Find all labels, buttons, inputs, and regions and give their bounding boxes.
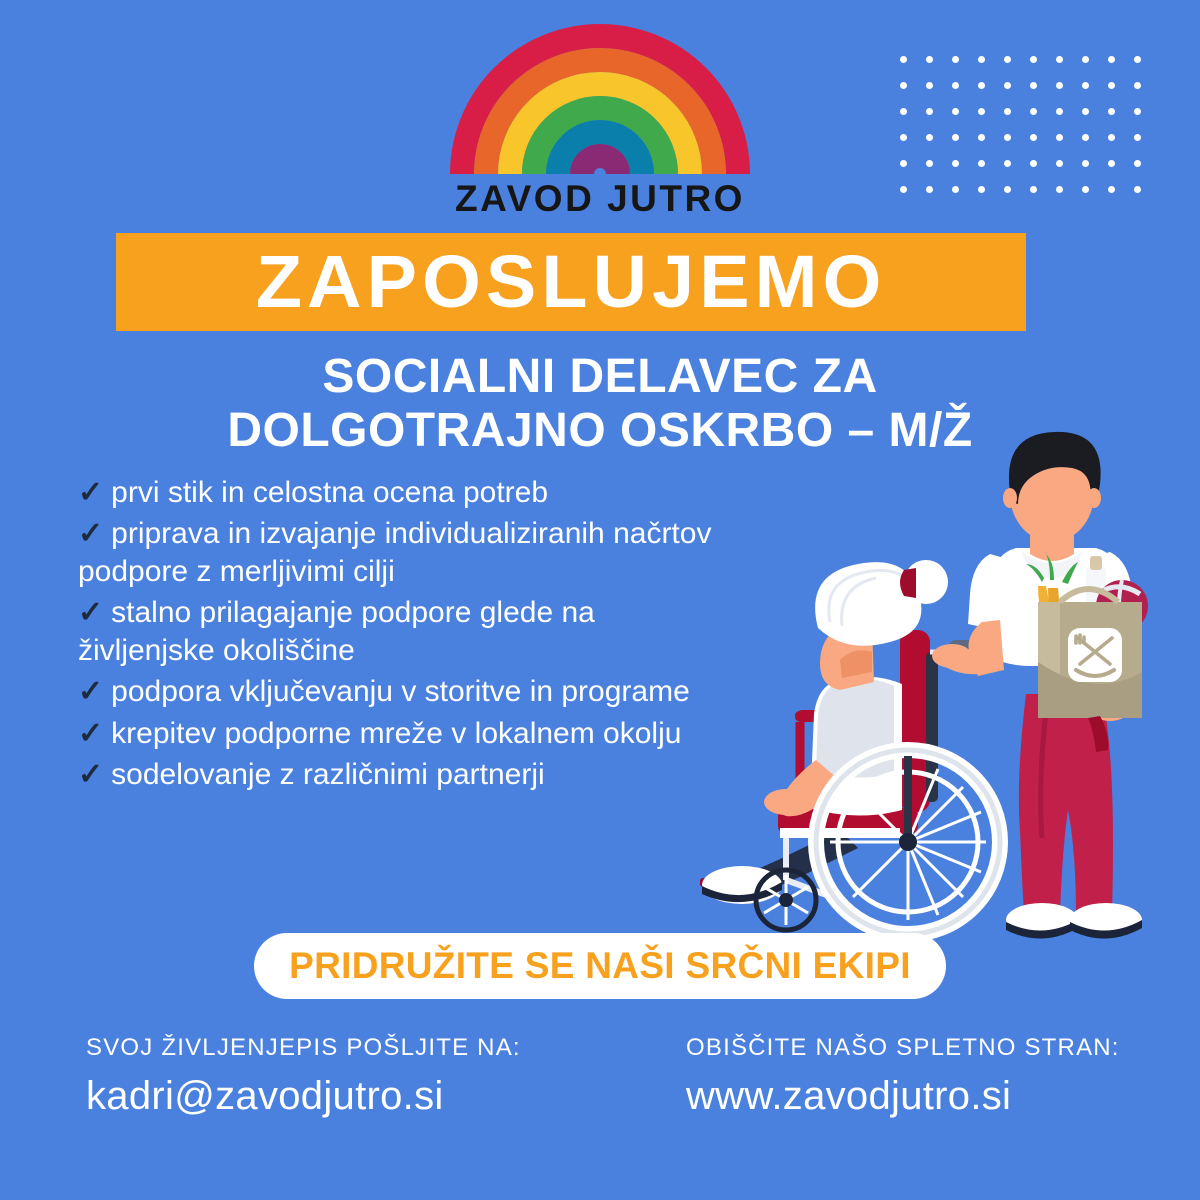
footer-website-block: OBIŠČITE NAŠO SPLETNO STRAN: www.zavodju… (686, 1034, 1120, 1119)
duty-item-label: prvi stik in celostna ocena potreb (111, 476, 548, 509)
duty-item: ✓prvi stik in celostna ocena potreb (78, 474, 738, 512)
check-icon: ✓ (78, 673, 103, 711)
check-icon: ✓ (78, 594, 103, 632)
duty-item-label: krepitev podporne mreže v lokalnem okolj… (111, 717, 681, 750)
footer-website-value[interactable]: www.zavodjutro.si (686, 1074, 1120, 1119)
join-team-cta-button[interactable]: PRIDRUŽITE SE NAŠI SRČNI EKIPI (254, 933, 946, 999)
check-icon: ✓ (78, 515, 103, 553)
job-title-line-1: SOCIALNI DELAVEC ZA (0, 350, 1200, 404)
duty-item: ✓stalno prilagajanje podpore glede na ži… (78, 594, 738, 670)
brand-logo-block: ZAVOD JUTRO (0, 24, 1200, 220)
footer-website-label: OBIŠČITE NAŠO SPLETNO STRAN: (686, 1034, 1120, 1062)
duty-item-label: priprava in izvajanje individualiziranih… (78, 517, 711, 588)
duty-item: ✓podpora vključevanju v storitve in prog… (78, 673, 738, 711)
footer-email-block: SVOJ ŽIVLJENJEPIS POŠLJITE NA: kadri@zav… (86, 1034, 521, 1119)
duty-item-label: stalno prilagajanje podpore glede na živ… (78, 596, 595, 667)
check-icon: ✓ (78, 474, 103, 512)
duty-item-label: podpora vključevanju v storitve in progr… (111, 675, 690, 708)
footer-email-value[interactable]: kadri@zavodjutro.si (86, 1074, 521, 1119)
join-team-cta-label: PRIDRUŽITE SE NAŠI SRČNI EKIPI (289, 945, 911, 987)
hiring-banner-text: ZAPOSLUJEMO (256, 245, 887, 319)
job-posting-poster: ZAVOD JUTRO ZAPOSLUJEMO SOCIALNI DELAVEC… (0, 0, 1200, 1200)
rainbow-icon (450, 24, 750, 174)
duties-list: ✓prvi stik in celostna ocena potreb✓prip… (78, 474, 738, 797)
duty-item-label: sodelovanje z različnimi partnerji (111, 758, 545, 791)
brand-wordmark: ZAVOD JUTRO (0, 178, 1200, 220)
duty-item: ✓priprava in izvajanje individualizirani… (78, 515, 738, 591)
caregiver-and-wheelchair-user-illustration (690, 430, 1190, 950)
check-icon: ✓ (78, 756, 103, 794)
duty-item: ✓krepitev podporne mreže v lokalnem okol… (78, 715, 738, 753)
hiring-banner: ZAPOSLUJEMO (116, 233, 1026, 331)
duty-item: ✓sodelovanje z različnimi partnerji (78, 756, 738, 794)
footer-email-label: SVOJ ŽIVLJENJEPIS POŠLJITE NA: (86, 1034, 521, 1062)
check-icon: ✓ (78, 715, 103, 753)
